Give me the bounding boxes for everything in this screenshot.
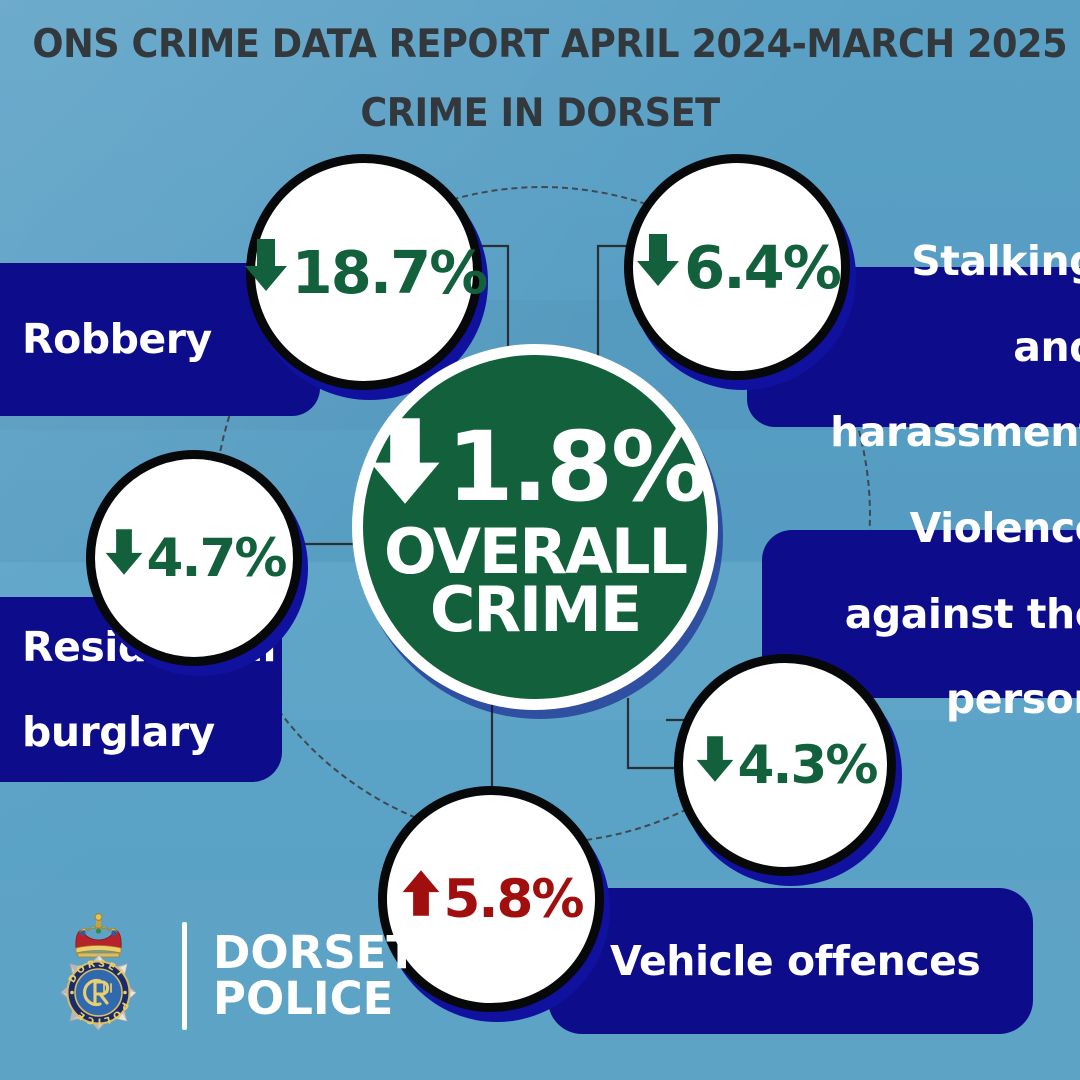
dorset-police-badge-icon: DORSET POLICE	[38, 912, 160, 1040]
label-line: burglary	[22, 711, 282, 754]
label-line: against the	[762, 593, 1080, 636]
label-line: Violence	[762, 507, 1080, 550]
hub-percentage: 1.8%	[365, 415, 705, 519]
stat-value-burglary: 4.7%	[103, 527, 286, 590]
label-vehicle-text: Vehicle offences	[610, 940, 1033, 983]
stat-value-text: 4.3%	[738, 735, 877, 796]
stat-value-text: 4.7%	[147, 528, 286, 589]
stat-value-violence: 4.3%	[694, 734, 877, 797]
down-arrow-icon	[365, 415, 445, 519]
label-line: harassment	[747, 411, 1080, 454]
footer-divider	[182, 922, 187, 1030]
dorset-police-wordmark: DORSET POLICE	[213, 930, 417, 1023]
stat-value-stalking: 6.4%	[634, 232, 840, 302]
hub-value-text: 1.8%	[447, 422, 705, 512]
stat-value-robbery: 18.7%	[242, 237, 487, 307]
infographic-canvas: ONS CRIME DATA REPORT APRIL 2024-MARCH 2…	[0, 0, 1080, 1080]
wordmark-line2: POLICE	[213, 976, 417, 1022]
down-arrow-icon	[103, 527, 145, 590]
page-title: ONS CRIME DATA REPORT APRIL 2024-MARCH 2…	[32, 22, 1047, 67]
down-arrow-icon	[242, 237, 290, 307]
stat-value-text: 18.7%	[292, 238, 487, 307]
label-vehicle-offences: Vehicle offences	[548, 888, 1033, 1034]
hub-label-line2: CRIME	[430, 581, 640, 639]
stat-value-text: 5.8%	[444, 869, 583, 930]
page-subtitle: CRIME IN DORSET	[32, 91, 1047, 136]
overall-crime-hub: 1.8% OVERALL CRIME	[352, 344, 718, 710]
stat-value-text: 6.4%	[684, 233, 840, 302]
wordmark-line1: DORSET	[213, 930, 417, 976]
circle-face: 4.7%	[86, 450, 302, 666]
footer-branding: DORSET POLICE DORSET POLICE	[38, 912, 417, 1040]
hub-content: 1.8% OVERALL CRIME	[352, 344, 718, 710]
down-arrow-icon	[694, 734, 736, 797]
stat-value-vehicle: 5.8%	[400, 868, 583, 931]
down-arrow-icon	[634, 232, 682, 302]
header: ONS CRIME DATA REPORT APRIL 2024-MARCH 2…	[0, 22, 1080, 136]
stat-circle-residential-burglary: 4.7%	[86, 450, 302, 666]
